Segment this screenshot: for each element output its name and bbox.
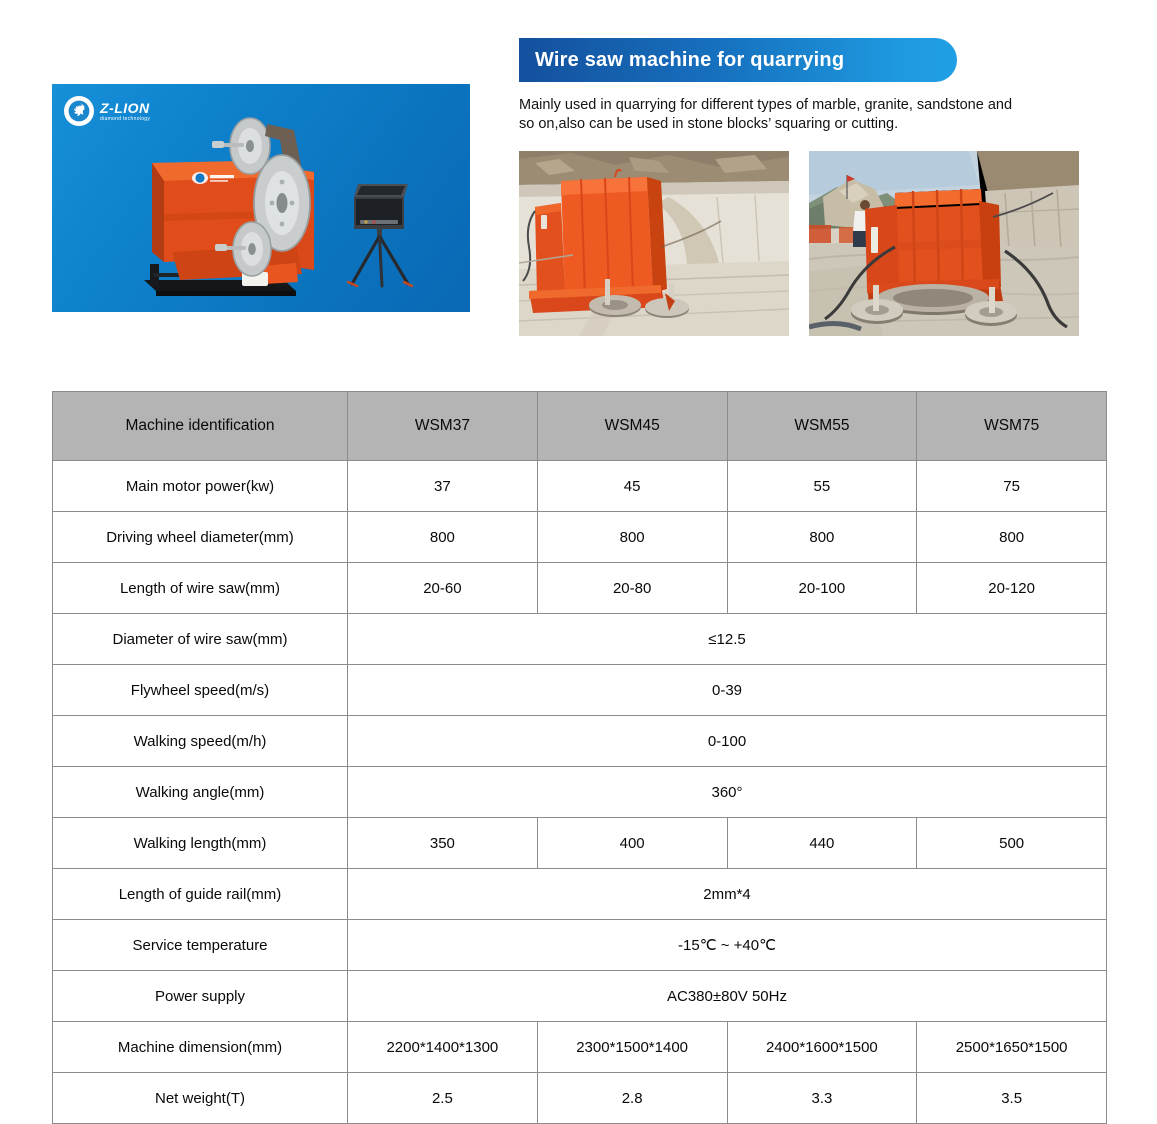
brand-name: Z-LION bbox=[100, 101, 150, 115]
column-header-wsm55: WSM55 bbox=[727, 392, 917, 461]
row-value: 37 bbox=[348, 461, 538, 512]
row-label: Net weight(T) bbox=[53, 1073, 348, 1124]
table-row: Walking angle(mm)360° bbox=[53, 767, 1107, 818]
table-row: Power supplyAC380±80V 50Hz bbox=[53, 971, 1107, 1022]
row-value-merged: 360° bbox=[348, 767, 1107, 818]
row-value: 800 bbox=[917, 512, 1107, 563]
table-row: Walking speed(m/h)0-100 bbox=[53, 716, 1107, 767]
row-value: 2.8 bbox=[537, 1073, 727, 1124]
row-label: Driving wheel diameter(mm) bbox=[53, 512, 348, 563]
table-row: Main motor power(kw)37455575 bbox=[53, 461, 1107, 512]
column-header-machine-identification: Machine identification bbox=[53, 392, 348, 461]
column-header-wsm37: WSM37 bbox=[348, 392, 538, 461]
product-description: Mainly used in quarrying for different t… bbox=[519, 96, 1031, 135]
photo-gallery bbox=[519, 151, 1109, 336]
row-value: 350 bbox=[348, 818, 538, 869]
row-value: 20-60 bbox=[348, 563, 538, 614]
product-info-column: Wire saw machine for quarrying Mainly us… bbox=[519, 38, 1109, 336]
row-value-merged: 0-39 bbox=[348, 665, 1107, 716]
row-label: Walking length(mm) bbox=[53, 818, 348, 869]
row-value: 2.5 bbox=[348, 1073, 538, 1124]
row-label: Service temperature bbox=[53, 920, 348, 971]
table-row: Flywheel speed(m/s)0-39 bbox=[53, 665, 1107, 716]
row-value: 2300*1500*1400 bbox=[537, 1022, 727, 1073]
row-value: 20-80 bbox=[537, 563, 727, 614]
row-value: 440 bbox=[727, 818, 917, 869]
row-label: Walking speed(m/h) bbox=[53, 716, 348, 767]
table-row: Net weight(T)2.52.83.33.5 bbox=[53, 1073, 1107, 1124]
row-value: 800 bbox=[348, 512, 538, 563]
row-label: Length of wire saw(mm) bbox=[53, 563, 348, 614]
row-value: 75 bbox=[917, 461, 1107, 512]
column-header-wsm75: WSM75 bbox=[917, 392, 1107, 461]
table-row: Service temperature-15℃ ~ +40℃ bbox=[53, 920, 1107, 971]
row-value: 55 bbox=[727, 461, 917, 512]
row-value-merged: -15℃ ~ +40℃ bbox=[348, 920, 1107, 971]
product-overview-section: Z-LION diamond technology Wire saw machi… bbox=[0, 0, 1157, 372]
table-row: Machine dimension(mm)2200*1400*13002300*… bbox=[53, 1022, 1107, 1073]
row-value: 400 bbox=[537, 818, 727, 869]
row-label: Main motor power(kw) bbox=[53, 461, 348, 512]
table-row: Walking length(mm)350400440500 bbox=[53, 818, 1107, 869]
table-row: Driving wheel diameter(mm)800800800800 bbox=[53, 512, 1107, 563]
table-row: Length of wire saw(mm)20-6020-8020-10020… bbox=[53, 563, 1107, 614]
row-label: Diameter of wire saw(mm) bbox=[53, 614, 348, 665]
photo-quarry-front-view bbox=[809, 151, 1079, 336]
lion-head-icon bbox=[64, 96, 94, 126]
row-value-merged: 2mm*4 bbox=[348, 869, 1107, 920]
hero-product-image: Z-LION diamond technology bbox=[52, 84, 470, 312]
row-value: 800 bbox=[727, 512, 917, 563]
row-label: Length of guide rail(mm) bbox=[53, 869, 348, 920]
row-value: 3.5 bbox=[917, 1073, 1107, 1124]
table-row: Length of guide rail(mm)2mm*4 bbox=[53, 869, 1107, 920]
column-header-wsm45: WSM45 bbox=[537, 392, 727, 461]
brand-logo: Z-LION diamond technology bbox=[64, 96, 150, 126]
specification-table: Machine identification WSM37 WSM45 WSM55… bbox=[52, 391, 1107, 1124]
row-label: Walking angle(mm) bbox=[53, 767, 348, 818]
row-value: 20-100 bbox=[727, 563, 917, 614]
row-label: Machine dimension(mm) bbox=[53, 1022, 348, 1073]
row-value: 2400*1600*1500 bbox=[727, 1022, 917, 1073]
row-label: Power supply bbox=[53, 971, 348, 1022]
row-value: 2500*1650*1500 bbox=[917, 1022, 1107, 1073]
row-value-merged: ≤12.5 bbox=[348, 614, 1107, 665]
row-value: 3.3 bbox=[727, 1073, 917, 1124]
brand-tagline: diamond technology bbox=[100, 117, 150, 122]
section-title-banner: Wire saw machine for quarrying bbox=[519, 38, 957, 82]
row-value: 800 bbox=[537, 512, 727, 563]
photo-quarry-side-view bbox=[519, 151, 789, 336]
row-label: Flywheel speed(m/s) bbox=[53, 665, 348, 716]
row-value: 20-120 bbox=[917, 563, 1107, 614]
row-value: 45 bbox=[537, 461, 727, 512]
row-value-merged: AC380±80V 50Hz bbox=[348, 971, 1107, 1022]
table-header-row: Machine identification WSM37 WSM45 WSM55… bbox=[53, 392, 1107, 461]
row-value: 2200*1400*1300 bbox=[348, 1022, 538, 1073]
page-title: Wire saw machine for quarrying bbox=[519, 49, 844, 72]
row-value-merged: 0-100 bbox=[348, 716, 1107, 767]
control-panel-tripod bbox=[348, 184, 412, 286]
table-row: Diameter of wire saw(mm)≤12.5 bbox=[53, 614, 1107, 665]
row-value: 500 bbox=[917, 818, 1107, 869]
